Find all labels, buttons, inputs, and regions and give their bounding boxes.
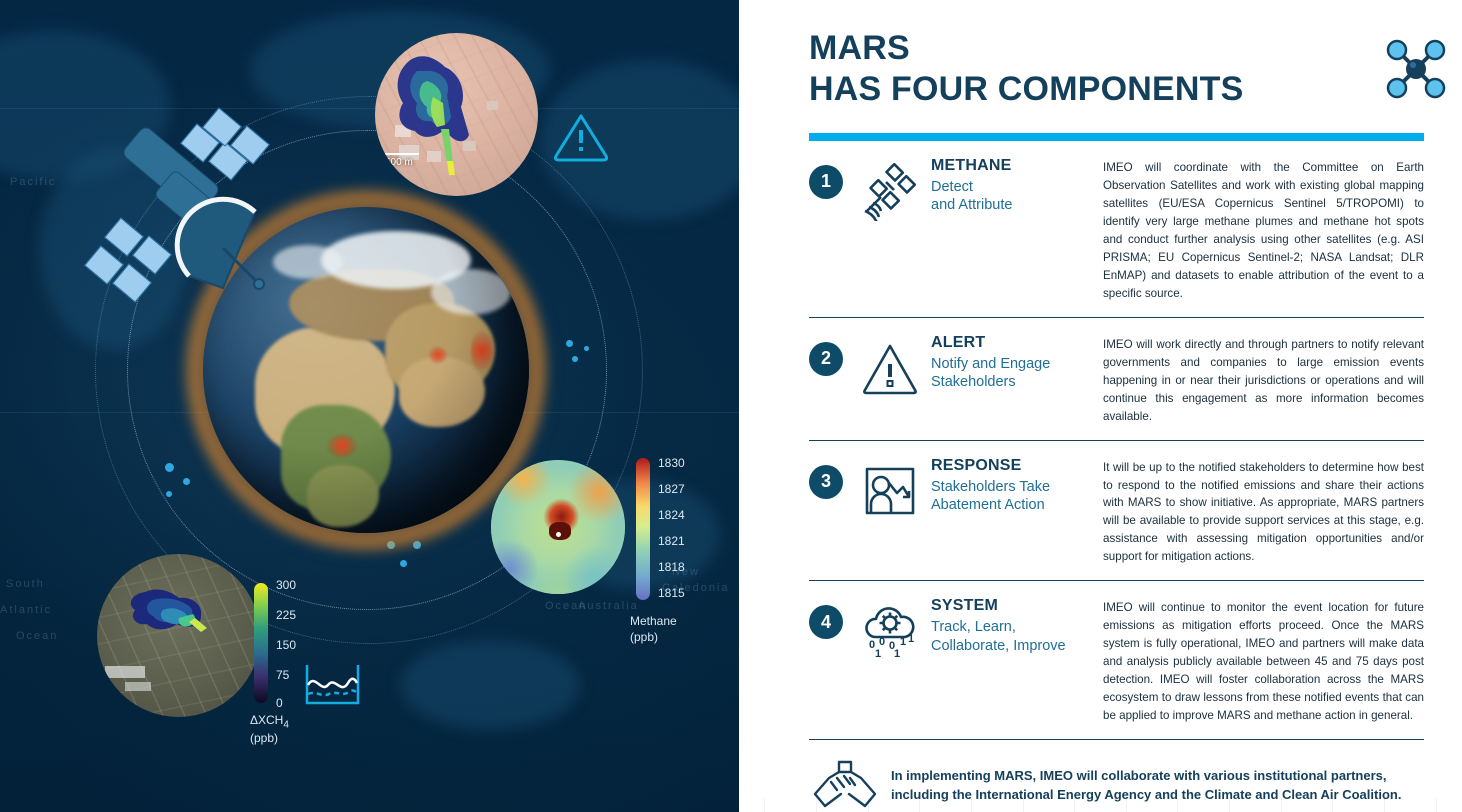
tick-mark xyxy=(1023,798,1024,812)
component-number-badge: 4 xyxy=(809,605,843,639)
data-dot xyxy=(566,340,573,347)
data-dot xyxy=(183,478,190,485)
tick-mark xyxy=(919,798,920,812)
colorbar-tick: 1824 xyxy=(658,509,685,521)
page-title: MARS HAS FOUR COMPONENTS xyxy=(809,28,1424,111)
svg-text:1: 1 xyxy=(900,636,906,648)
component-subtitle-line-2: Stakeholders xyxy=(931,373,1091,392)
component-body-text: IMEO will continue to monitor the event … xyxy=(1103,599,1424,725)
tick-mark xyxy=(1126,798,1127,812)
timeseries-chart-icon xyxy=(305,663,360,705)
component-number-badge: 2 xyxy=(809,342,843,376)
tick-mark xyxy=(1384,798,1385,812)
presentation-person-icon xyxy=(859,463,921,521)
component-body-text: IMEO will work directly and through part… xyxy=(1103,336,1424,426)
component-number-badge: 1 xyxy=(809,165,843,199)
component-subtitle-line-2: Abatement Action xyxy=(931,496,1091,515)
component-subtitle: Detect and Attribute xyxy=(931,178,1091,215)
component-title: ALERT xyxy=(931,334,1091,352)
component-body-text: IMEO will coordinate with the Committee … xyxy=(1103,159,1424,303)
svg-text:1: 1 xyxy=(894,648,900,660)
component-item-2: 2 ALERT Notify and Engage Stakeholders I… xyxy=(809,318,1424,441)
alert-triangle-icon-cyan xyxy=(552,110,610,164)
methane-concentration-heatmap-inset xyxy=(491,460,625,594)
tick-mark xyxy=(1074,798,1075,812)
component-name-block: SYSTEM Track, Learn, Collaborate, Improv… xyxy=(931,597,1091,725)
colorbar-tick: 1821 xyxy=(658,535,685,547)
alert-triangle-icon xyxy=(859,340,921,398)
component-subtitle-line-1: Stakeholders Take xyxy=(931,478,1091,497)
content-panel: MARS HAS FOUR COMPONENTS 1 xyxy=(739,0,1462,812)
accent-bar xyxy=(809,133,1424,141)
svg-text:0: 0 xyxy=(879,636,885,648)
methane-concentration-colorbar: 1830 1827 1824 1821 1818 1815 Methane (p… xyxy=(636,458,650,600)
tick-mark xyxy=(816,798,817,812)
data-dot xyxy=(166,491,172,497)
tick-mark xyxy=(1281,798,1282,812)
title-line-2: HAS FOUR COMPONENTS xyxy=(809,69,1424,110)
colorbar-tick: 1815 xyxy=(658,587,685,599)
colorbar-caption-unit: (ppb) xyxy=(250,731,278,745)
map-continent-blob xyxy=(400,640,580,730)
component-item-1: 1 METHANE xyxy=(809,141,1424,318)
tick-mark xyxy=(1177,798,1178,812)
heatmap-peak xyxy=(549,522,571,540)
title-line-1: MARS xyxy=(809,28,1424,69)
component-body-text: It will be up to the notified stakeholde… xyxy=(1103,459,1424,567)
map-label: Pacific xyxy=(10,176,56,188)
svg-text:1: 1 xyxy=(875,648,881,660)
data-dot xyxy=(584,346,589,351)
data-dot xyxy=(400,560,407,567)
satellite-illustration xyxy=(103,128,293,303)
tick-mark xyxy=(1332,798,1333,812)
methane-plume-overlay xyxy=(375,33,538,196)
colorbar-tick: 150 xyxy=(276,639,296,651)
tick-mark xyxy=(1436,798,1437,812)
colorbar-tick: 75 xyxy=(276,669,289,681)
component-subtitle: Track, Learn, Collaborate, Improve xyxy=(931,618,1091,655)
footer-line-1: In implementing MARS, IMEO will collabor… xyxy=(891,767,1401,786)
mars-network-logo xyxy=(1385,38,1447,100)
bottom-tick-pattern xyxy=(739,786,1462,812)
component-subtitle-line-2: Collaborate, Improve xyxy=(931,637,1091,656)
component-number-badge: 3 xyxy=(809,465,843,499)
colorbar-caption-unit: (ppb) xyxy=(630,630,658,644)
component-name-block: RESPONSE Stakeholders Take Abatement Act… xyxy=(931,457,1091,567)
tick-mark xyxy=(1229,798,1230,812)
data-dot xyxy=(572,356,578,362)
visual-panel: Pacific South Atlantic Ocean Ocean Austr… xyxy=(0,0,739,812)
colorbar-tick: 1830 xyxy=(658,457,685,469)
component-title: METHANE xyxy=(931,157,1091,175)
component-subtitle-line-2: and Attribute xyxy=(931,196,1091,215)
colorbar-tick: 1827 xyxy=(658,483,685,495)
colorbar-gradient xyxy=(254,583,268,703)
colorbar-caption-subscript: 4 xyxy=(283,719,289,730)
component-title: SYSTEM xyxy=(931,597,1091,615)
component-item-3: 3 RESPONSE Stakeholders Take Abatement A… xyxy=(809,441,1424,582)
map-label: South xyxy=(6,578,45,590)
satellite-icon xyxy=(859,163,921,221)
colorbar-tick: 1818 xyxy=(658,561,685,573)
component-subtitle-line-1: Track, Learn, xyxy=(931,618,1091,637)
methane-plume-overlay xyxy=(97,554,260,717)
methane-plume-farmland-inset xyxy=(97,554,260,717)
tick-mark xyxy=(971,798,972,812)
map-label: Atlantic xyxy=(0,604,52,616)
tick-mark xyxy=(868,798,869,812)
component-title: RESPONSE xyxy=(931,457,1091,475)
colorbar-caption-title: Methane xyxy=(630,614,677,628)
colorbar-tick: 0 xyxy=(276,697,283,709)
colorbar-tick: 300 xyxy=(276,579,296,591)
data-dot xyxy=(165,463,174,472)
colorbar-tick: 225 xyxy=(276,609,296,621)
infographic-page: Pacific South Atlantic Ocean Ocean Austr… xyxy=(0,0,1462,812)
colorbar-caption: ΔXCH4 (ppb) xyxy=(250,713,289,747)
emission-source-marker xyxy=(556,532,561,537)
methane-plume-desert-inset: 500 m xyxy=(375,33,538,196)
delta-xch4-colorbar: 300 225 150 75 0 ΔXCH4 (ppb) xyxy=(254,583,268,703)
tick-mark xyxy=(764,798,765,812)
scale-bar xyxy=(385,153,419,155)
colorbar-caption: Methane (ppb) xyxy=(630,614,677,645)
map-label: Australia xyxy=(578,600,639,612)
component-subtitle: Stakeholders Take Abatement Action xyxy=(931,478,1091,515)
component-name-block: ALERT Notify and Engage Stakeholders xyxy=(931,334,1091,426)
scale-bar-label: 500 m xyxy=(385,157,413,168)
dish-antenna xyxy=(103,128,293,303)
svg-text:1: 1 xyxy=(908,633,914,645)
colorbar-caption-symbol: ΔXCH xyxy=(250,713,283,727)
component-subtitle: Notify and Engage Stakeholders xyxy=(931,355,1091,392)
cloud-gear-binary-icon: 00 01 11 1 xyxy=(859,603,921,661)
component-name-block: METHANE Detect and Attribute xyxy=(931,157,1091,303)
component-subtitle-line-1: Notify and Engage xyxy=(931,355,1091,374)
component-subtitle-line-1: Detect xyxy=(931,178,1091,197)
colorbar-gradient xyxy=(636,458,650,600)
component-item-4: 4 00 01 11 1 SYSTEM xyxy=(809,581,1424,740)
map-label: Ocean xyxy=(16,630,58,642)
